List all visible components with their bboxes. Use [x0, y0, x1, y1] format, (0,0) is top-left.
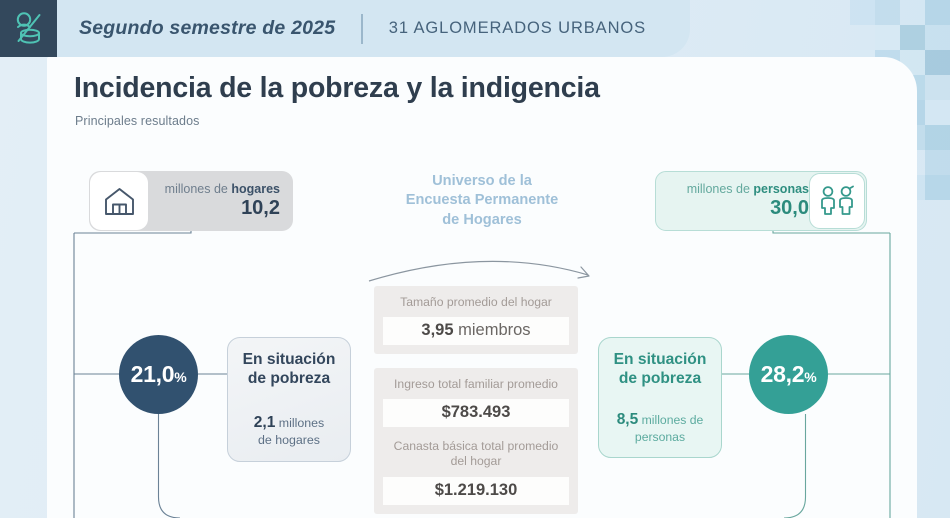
people-poverty-percent-circle: 28,2% — [749, 335, 828, 414]
households-card-title-line-2: de pobreza — [228, 370, 350, 389]
households-poverty-percent-circle: 21,0% — [119, 335, 198, 414]
people-total-label: millones de personas — [668, 182, 809, 196]
house-icon — [104, 187, 135, 216]
basic-basket-value-wrap: $1.219.130 — [383, 477, 569, 505]
avg-family-income-box: Ingreso total familiar promedio $783.493 — [374, 368, 578, 436]
indec-logo-icon — [12, 11, 46, 47]
header-bar: Segundo semestre de 2025 31 AGLOMERADOS … — [0, 0, 690, 57]
avg-family-income-value: $783.493 — [383, 403, 569, 422]
basic-basket-caption-line-2: del hogar — [382, 454, 570, 469]
content-panel: Incidencia de la pobreza y la indigencia… — [47, 57, 917, 518]
people-poverty-percent: 28,2% — [761, 361, 817, 388]
households-poverty-card: En situación de pobreza 2,1 millones de … — [227, 337, 351, 462]
universe-line-3: de Hogares — [335, 211, 629, 230]
avg-household-size-box: Tamaño promedio del hogar 3,95 miembros — [374, 286, 578, 354]
basic-basket-caption: Canasta básica total promedio del hogar — [374, 439, 578, 470]
households-total-label: millones de hogares — [148, 182, 280, 196]
universe-caption: Universo de la Encuesta Permanente de Ho… — [335, 172, 629, 230]
basic-basket-caption-line-1: Canasta básica total promedio — [382, 439, 570, 454]
avg-household-size-value-wrap: 3,95 miembros — [383, 317, 569, 345]
header-coverage: 31 AGLOMERADOS URBANOS — [389, 19, 646, 38]
people-card-title-line-1: En situación — [599, 351, 721, 370]
households-total-value: 10,2 — [148, 197, 280, 219]
people-poverty-amount-unit: personas — [599, 430, 721, 445]
avg-family-income-caption: Ingreso total familiar promedio — [374, 377, 578, 392]
avg-family-income-value-wrap: $783.493 — [383, 399, 569, 427]
people-poverty-amount: 8,5 millones de personas — [599, 410, 721, 445]
people-total-value: 30,0 — [668, 197, 809, 219]
page-title: Incidencia de la pobreza y la indigencia — [74, 72, 600, 105]
people-total-text: millones de personas 30,0 — [656, 182, 809, 219]
households-poverty-percent: 21,0% — [131, 361, 187, 388]
people-total-pill: millones de personas 30,0 — [655, 171, 867, 231]
people-poverty-card: En situación de pobreza 8,5 millones de … — [598, 337, 722, 458]
avg-household-size-value: 3,95 miembros — [383, 321, 569, 340]
people-card-title-line-2: de pobreza — [599, 370, 721, 389]
avg-household-size-caption: Tamaño promedio del hogar — [374, 295, 578, 310]
house-icon-container — [90, 172, 148, 230]
households-poverty-amount-unit: de hogares — [228, 433, 350, 449]
households-total-pill: millones de hogares 10,2 — [89, 171, 293, 231]
two-people-icon — [816, 185, 858, 217]
basic-basket-value: $1.219.130 — [383, 481, 569, 500]
header-period: Segundo semestre de 2025 — [79, 17, 335, 40]
universe-line-1: Universo de la — [335, 172, 629, 191]
infographic-root: Segundo semestre de 2025 31 AGLOMERADOS … — [0, 0, 950, 518]
header-divider — [361, 14, 363, 44]
two-people-icon-container — [809, 173, 865, 229]
basic-basket-box: Canasta básica total promedio del hogar … — [374, 430, 578, 514]
page-subtitle: Principales resultados — [75, 114, 199, 128]
universe-line-2: Encuesta Permanente — [335, 191, 629, 210]
households-poverty-amount: 2,1 millones de hogares — [228, 413, 350, 448]
households-card-title-line-1: En situación — [228, 351, 350, 370]
logo-box — [0, 0, 57, 57]
households-total-text: millones de hogares 10,2 — [148, 182, 293, 219]
